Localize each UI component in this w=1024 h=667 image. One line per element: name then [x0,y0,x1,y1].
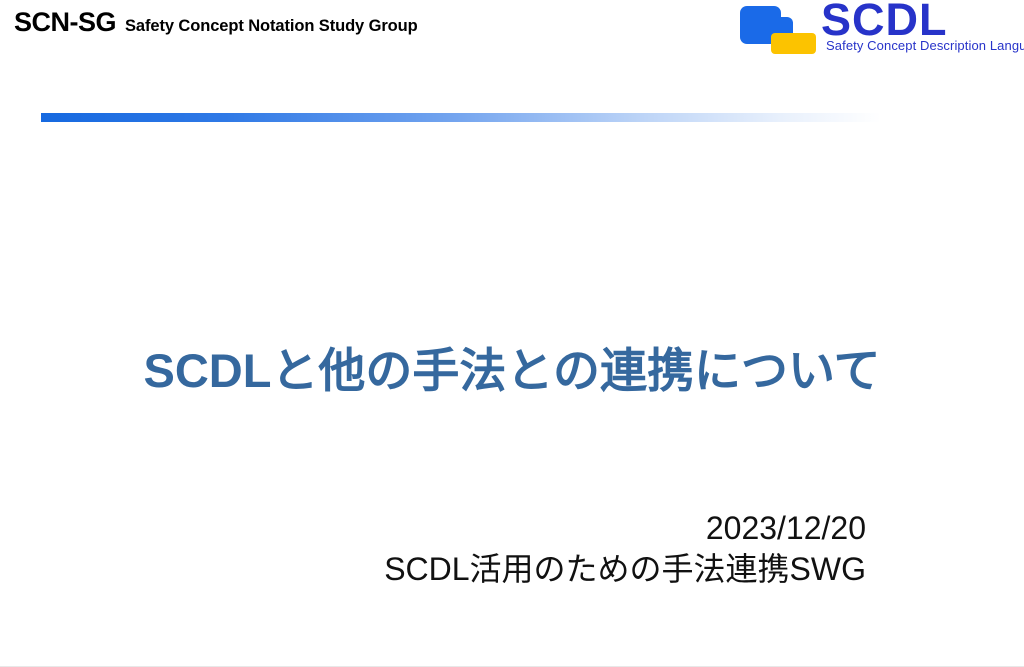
organization-branding: SCN-SG Safety Concept Notation Study Gro… [14,9,418,36]
organization-abbreviation: SCN-SG [14,9,116,36]
slide-header: SCN-SG Safety Concept Notation Study Gro… [0,0,1024,60]
presentation-date: 2023/12/20 [384,508,866,549]
scdl-wordmark: SCDL [821,0,948,42]
presenting-group: SCDL活用のための手法連携SWG [384,549,866,590]
organization-full-name: Safety Concept Notation Study Group [125,18,418,35]
gradient-accent-bar [41,113,881,122]
logo-yellow-rect-shape [771,33,816,54]
scdl-logo-mark-icon [740,4,818,54]
slide-meta: 2023/12/20 SCDL活用のための手法連携SWG [384,508,866,590]
scdl-logo: SCDL Safety Concept Description Language [735,1,1020,57]
scdl-tagline: Safety Concept Description Language [826,39,1024,52]
slide-title: SCDLと他の手法との連携について [0,344,1024,398]
slide-canvas: SCN-SG Safety Concept Notation Study Gro… [0,0,1024,667]
